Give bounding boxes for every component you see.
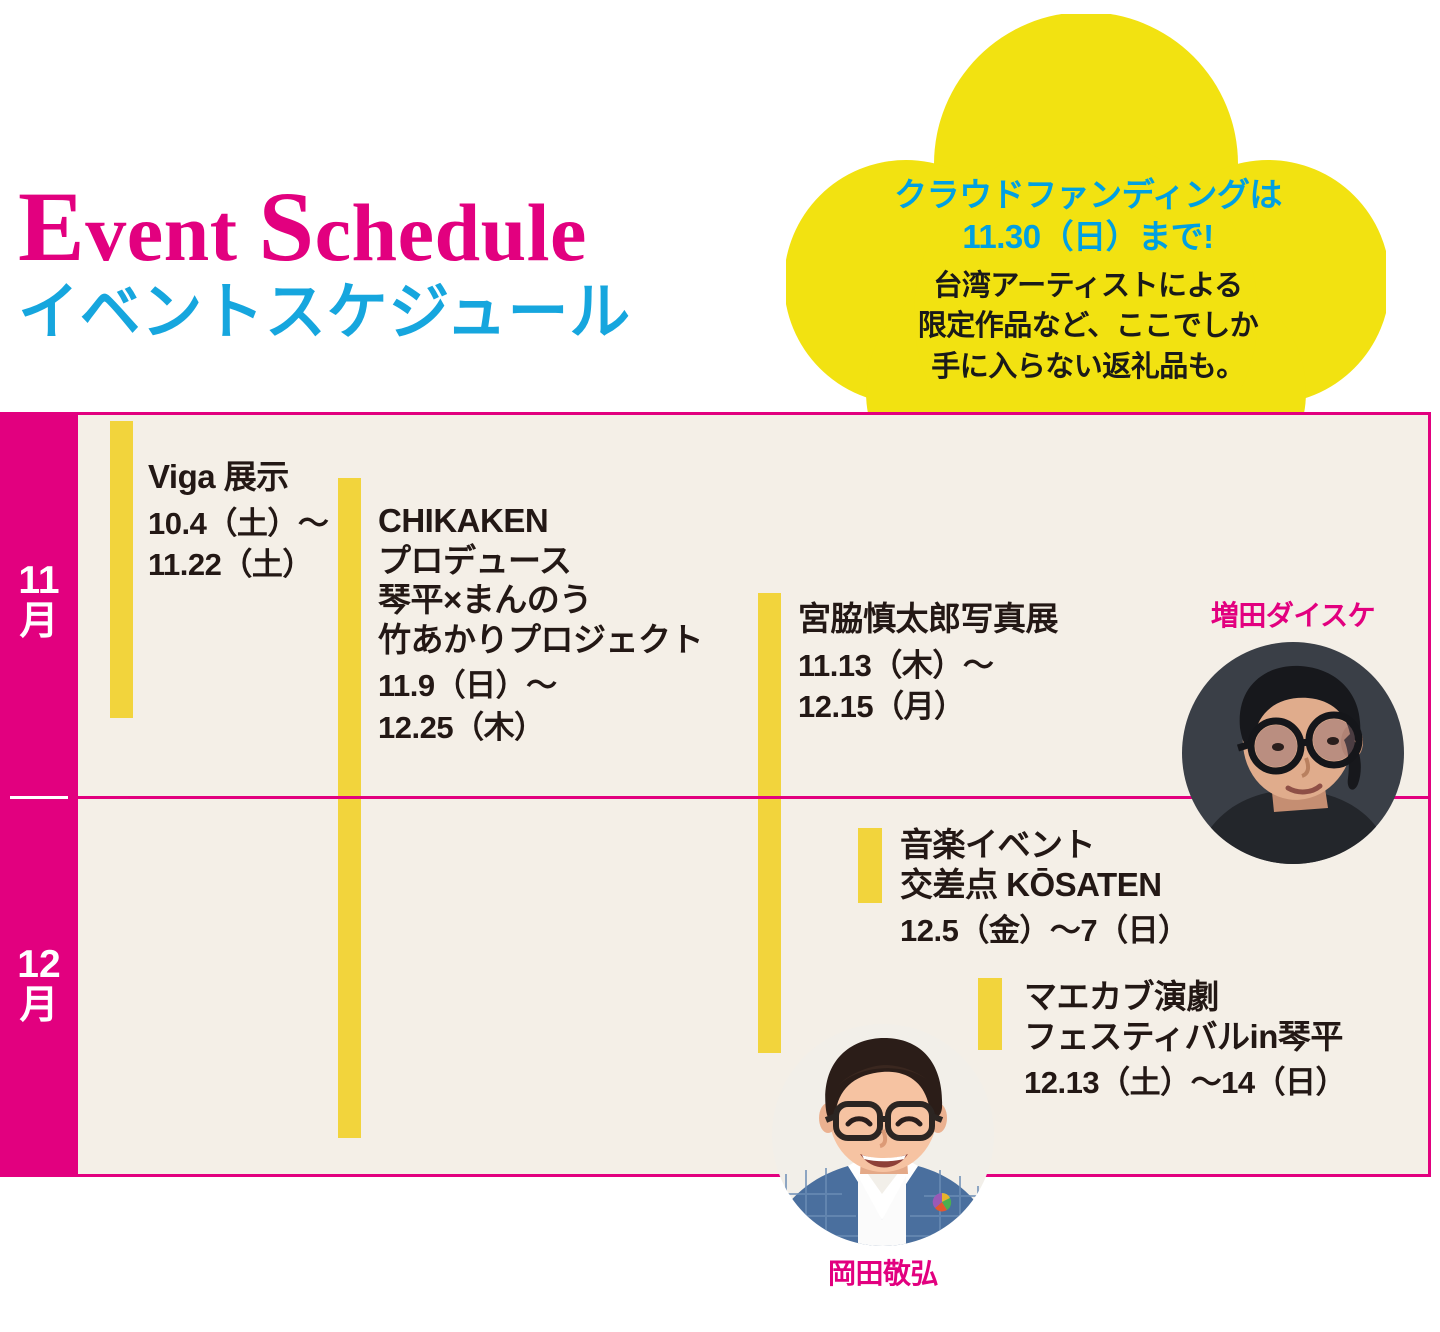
event-viga: Viga 展示 10.4（土）〜 11.22（土） (148, 457, 328, 584)
title-cap-s: S (259, 171, 315, 282)
event-chikaken-date-1: 11.9（日）〜 (378, 667, 703, 705)
event-viga-date-1: 10.4（土）〜 (148, 505, 328, 543)
month-number-11: 11 (0, 561, 78, 602)
bubble-headline-2: 11.30（日）まで! (838, 216, 1338, 258)
duration-bar-chikaken (338, 478, 361, 1138)
event-maekabu-title-2: フェスティバルin琴平 (1024, 1017, 1346, 1057)
event-viga-title: Viga 展示 (148, 457, 328, 497)
event-viga-date-2: 11.22（土） (148, 546, 328, 584)
event-miyawaki-date-2: 12.15（月） (798, 688, 1058, 726)
bubble-text-group: クラウドファンディングは 11.30（日）まで! 台湾アーティストによる 限定作… (838, 174, 1338, 387)
event-schedule-poster: Event Schedule イベントスケジュール クラウドファンディングは 1… (0, 0, 1440, 1332)
event-miyawaki: 宮脇慎太郎写真展 11.13（木）〜 12.15（月） (798, 599, 1058, 726)
event-chikaken-title-4: 竹あかりプロジェクト (378, 620, 703, 660)
portrait-okada-takahiro: 岡田敬弘 (758, 1024, 1008, 1292)
avatar-masuda-daisuke (1182, 642, 1404, 864)
event-chikaken: CHIKAKEN プロデュース 琴平×まんのう 竹あかりプロジェクト 11.9（… (378, 501, 703, 747)
event-kosaten-title-1: 音楽イベント (900, 825, 1189, 865)
event-kosaten-title-2: 交差点 KŌSATEN (900, 865, 1189, 905)
bubble-body-1: 台湾アーティストによる (838, 266, 1338, 306)
bubble-body-2: 限定作品など、ここでしか (838, 306, 1338, 346)
event-maekabu-date: 12.13（土）〜14（日） (1024, 1064, 1346, 1102)
duration-bar-miyawaki (758, 593, 781, 1053)
month-unit-11: 月 (0, 602, 78, 643)
title-english: Event Schedule (18, 178, 644, 276)
month-column: 11 月 12 月 (0, 415, 78, 1174)
event-chikaken-title-2: プロデュース (378, 541, 703, 581)
portrait-name-okada: 岡田敬弘 (758, 1252, 1008, 1292)
month-label-november: 11 月 (0, 561, 78, 642)
event-kosaten-date: 12.5（金）〜7（日） (900, 912, 1189, 950)
month-column-divider (10, 796, 68, 799)
title-japanese: イベントスケジュール (18, 282, 631, 344)
event-kosaten: 音楽イベント 交差点 KŌSATEN 12.5（金）〜7（日） (900, 825, 1189, 950)
event-chikaken-title-1: CHIKAKEN (378, 501, 703, 541)
portrait-name-masuda: 増田ダイスケ (1168, 594, 1418, 634)
title-word-chedule: chedule (315, 187, 587, 278)
event-maekabu: マエカブ演劇 フェスティバルin琴平 12.13（土）〜14（日） (1024, 977, 1346, 1102)
avatar-masuda-image (1182, 642, 1404, 864)
event-maekabu-title-1: マエカブ演劇 (1024, 977, 1346, 1017)
avatar-okada-takahiro (772, 1024, 994, 1246)
month-unit-12: 月 (0, 986, 78, 1027)
duration-bar-kosaten (858, 828, 882, 903)
event-miyawaki-date-1: 11.13（木）〜 (798, 647, 1058, 685)
event-miyawaki-title: 宮脇慎太郎写真展 (798, 599, 1058, 639)
bubble-headline-1: クラウドファンディングは (838, 174, 1338, 216)
title-cap-e: E (18, 171, 85, 282)
portrait-masuda-daisuke: 増田ダイスケ (1168, 594, 1418, 864)
bubble-body-3: 手に入らない返礼品も。 (838, 347, 1338, 387)
event-chikaken-title-3: 琴平×まんのう (378, 580, 703, 620)
month-label-december: 12 月 (0, 945, 78, 1026)
avatar-okada-image (772, 1024, 994, 1246)
page-title: Event Schedule イベントスケジュール (18, 178, 644, 344)
month-number-12: 12 (0, 945, 78, 986)
title-word-vent: vent (85, 187, 237, 278)
duration-bar-viga (110, 421, 133, 718)
event-chikaken-date-2: 12.25（木） (378, 709, 703, 747)
